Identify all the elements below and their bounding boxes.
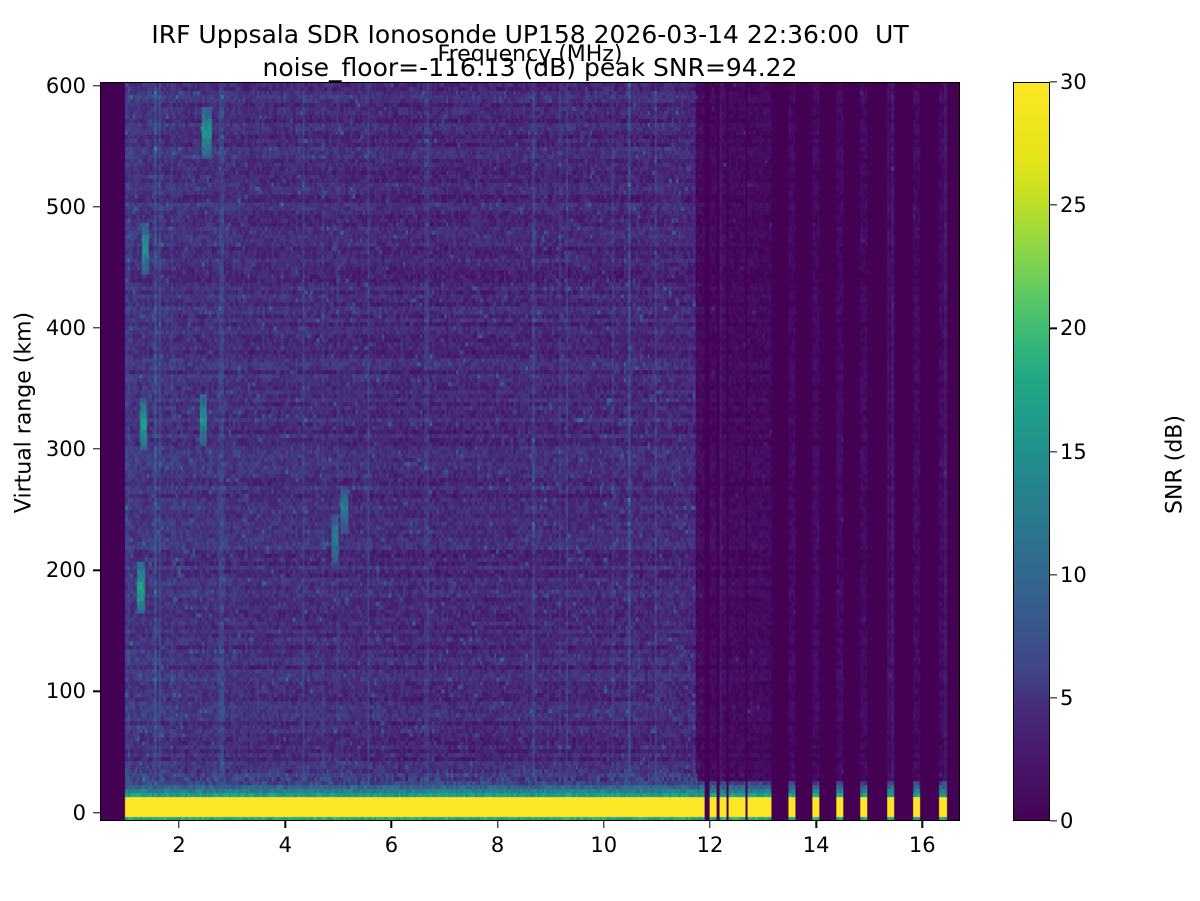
x-tick-mark — [391, 821, 392, 828]
y-tick-label: 400 — [46, 316, 86, 340]
x-tick-label: 12 — [697, 833, 724, 857]
colorbar-tick-mark — [1050, 451, 1057, 452]
x-axis: 246810121416 — [0, 821, 1200, 901]
colorbar-tick-mark — [1050, 205, 1057, 206]
x-tick-label: 14 — [803, 833, 830, 857]
x-tick-mark — [709, 821, 710, 828]
y-tick-mark — [93, 85, 100, 86]
x-tick-mark — [922, 821, 923, 828]
x-tick-mark — [815, 821, 816, 828]
y-tick-mark — [93, 570, 100, 571]
ionogram-plot-area — [100, 82, 960, 821]
x-tick-mark — [497, 821, 498, 828]
y-tick-mark — [93, 691, 100, 692]
x-tick-label: 10 — [590, 833, 617, 857]
colorbar-tick-label: 25 — [1060, 193, 1087, 217]
x-tick-label: 4 — [279, 833, 292, 857]
y-tick-mark — [93, 448, 100, 449]
x-tick-label: 2 — [172, 833, 185, 857]
y-tick-label: 600 — [46, 74, 86, 98]
x-tick-label: 8 — [491, 833, 504, 857]
colorbar-tick-label: 20 — [1060, 316, 1087, 340]
x-tick-mark — [285, 821, 286, 828]
x-axis-label: Frequency (MHz) — [100, 42, 960, 67]
colorbar-tick-mark — [1050, 820, 1057, 821]
y-tick-label: 500 — [46, 195, 86, 219]
x-tick-label: 16 — [909, 833, 936, 857]
colorbar-tick-mark — [1050, 574, 1057, 575]
y-tick-label: 300 — [46, 437, 86, 461]
colorbar-tick-mark — [1050, 328, 1057, 329]
ionogram-figure: IRF Uppsala SDR Ionosonde UP158 2026-03-… — [0, 0, 1200, 900]
colorbar-tick-mark — [1050, 81, 1057, 82]
x-tick-label: 6 — [385, 833, 398, 857]
colorbar-tick-mark — [1050, 697, 1057, 698]
colorbar-tick-label: 30 — [1060, 70, 1087, 94]
x-tick-mark — [178, 821, 179, 828]
y-tick-mark — [93, 327, 100, 328]
colorbar-tick-label: 0 — [1060, 809, 1073, 833]
y-tick-mark — [93, 206, 100, 207]
ionogram-heatmap — [101, 83, 959, 820]
colorbar-tick-label: 10 — [1060, 563, 1087, 587]
colorbar-tick-label: 15 — [1060, 440, 1087, 464]
y-axis-label: Virtual range (km) — [12, 33, 37, 793]
colorbar-tick-label: 5 — [1060, 686, 1073, 710]
y-tick-mark — [93, 812, 100, 813]
colorbar-label: SNR (dB) — [1163, 95, 1188, 835]
y-tick-label: 200 — [46, 558, 86, 582]
colorbar — [1013, 82, 1050, 821]
y-tick-label: 100 — [46, 679, 86, 703]
x-tick-mark — [603, 821, 604, 828]
